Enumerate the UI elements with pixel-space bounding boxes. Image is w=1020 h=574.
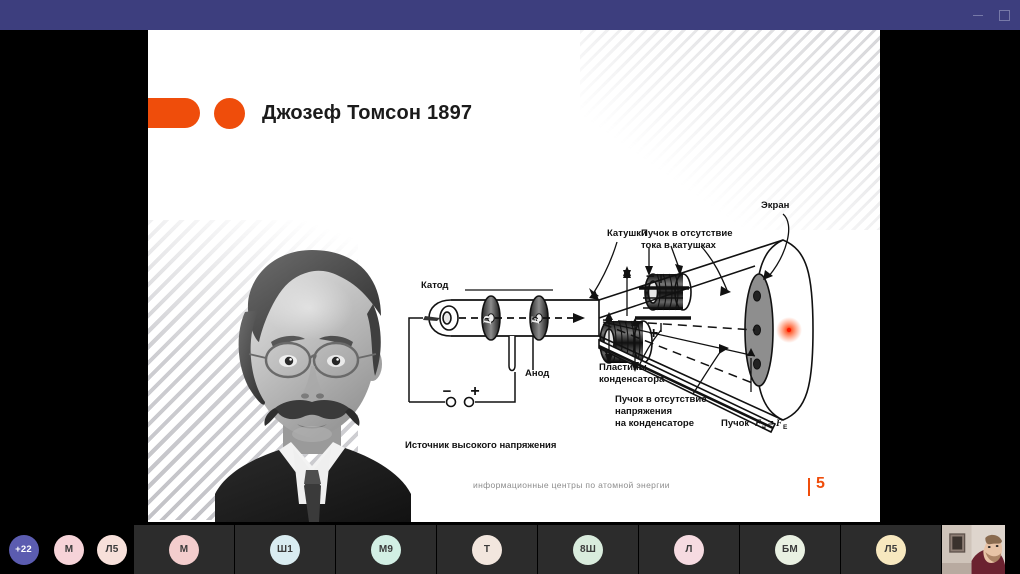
- label-beam-no-voltage-line1: Пучок в отсутствие: [615, 394, 707, 405]
- presentation-slide: Джозеф Томсон 1897: [148, 30, 880, 522]
- self-view-tile[interactable]: [942, 525, 1006, 574]
- maximize-icon[interactable]: [998, 9, 1010, 21]
- beam-spot-core: [787, 328, 791, 332]
- label-beam-no-voltage-line2: напряжения: [615, 406, 672, 417]
- label-cathode: Катод: [421, 280, 448, 291]
- slide-footer-text: информационные центры по атомной энергии: [473, 480, 670, 490]
- avatar: Ш1: [270, 535, 300, 565]
- label-beam-balanced-f1: F: [754, 419, 762, 429]
- label-beam-balanced-sub1: н: [762, 424, 766, 431]
- label-beam-balanced-f2: F: [775, 419, 783, 429]
- avatar: БМ: [775, 535, 805, 565]
- participant-tile[interactable]: М9: [336, 525, 437, 574]
- diagram-minus-sign: −: [646, 268, 655, 285]
- label-beam-no-current-line2: тока в катушках: [641, 240, 717, 251]
- label-beam-balanced-sub2: E: [783, 424, 788, 431]
- cathode-ray-tube-diagram: − + D E − + Катод Анод Катушки Экран Пуч…: [403, 170, 873, 460]
- label-anode: Анод: [525, 368, 549, 379]
- diagram-letter-e: E: [528, 316, 542, 325]
- avatar: 8Ш: [573, 535, 603, 565]
- participant-tile[interactable]: Л5: [841, 525, 942, 574]
- portrait-jj-thomson: [205, 242, 419, 522]
- avatar: Л5: [876, 535, 906, 565]
- participant-tile[interactable]: 8Ш: [538, 525, 639, 574]
- avatar: Л5: [97, 535, 127, 565]
- shared-screen-stage[interactable]: Джозеф Томсон 1897: [0, 30, 1020, 525]
- slide-page-number: 5: [816, 475, 825, 493]
- self-view-video: [942, 525, 1005, 574]
- participant-tile[interactable]: М: [48, 525, 91, 574]
- footer-accent-bar: [808, 478, 810, 496]
- label-screen: Экран: [761, 200, 790, 211]
- participant-tile[interactable]: Т: [437, 525, 538, 574]
- window-titlebar: [0, 0, 1020, 30]
- diagram-source-plus: +: [470, 383, 479, 400]
- participant-tile[interactable]: БМ: [740, 525, 841, 574]
- label-beam-balanced: Пучок: [721, 418, 749, 429]
- diagram-plus-sign: +: [649, 325, 658, 342]
- avatar: Л: [674, 535, 704, 565]
- label-hv-source: Источник высокого напряжения: [405, 440, 556, 451]
- participant-tile[interactable]: Ш1: [235, 525, 336, 574]
- title-accent-circle: [214, 98, 245, 129]
- participant-tile[interactable]: +22: [0, 525, 48, 574]
- participant-overflow-badge: +22: [9, 535, 39, 565]
- participant-tile[interactable]: Л5: [91, 525, 134, 574]
- label-beam-no-voltage-line3: на конденсаторе: [615, 418, 694, 429]
- avatar: М: [54, 535, 84, 565]
- slide-title: Джозеф Томсон 1897: [262, 98, 472, 129]
- window-controls: [972, 0, 1016, 30]
- title-accent-pill: [148, 98, 200, 128]
- minimize-icon[interactable]: [972, 9, 984, 21]
- avatar: М9: [371, 535, 401, 565]
- avatar: Т: [472, 535, 502, 565]
- label-beam-balanced-eq: =: [768, 418, 774, 429]
- participant-filmstrip: +22МЛ5МШ1М9Т8ШЛБМЛ5: [0, 525, 1020, 574]
- label-beam-no-current-line1: Пучок в отсутствие: [641, 228, 733, 239]
- diagram-letter-d: D: [480, 315, 494, 325]
- meeting-window: Джозеф Томсон 1897: [0, 0, 1020, 574]
- label-capacitor-plates-line2: конденсатора: [599, 374, 665, 385]
- participant-tile[interactable]: Л: [639, 525, 740, 574]
- participant-tile[interactable]: М: [134, 525, 235, 574]
- avatar: М: [169, 535, 199, 565]
- diagram-source-minus: −: [443, 383, 452, 400]
- label-capacitor-plates-line1: Пластины: [599, 362, 647, 373]
